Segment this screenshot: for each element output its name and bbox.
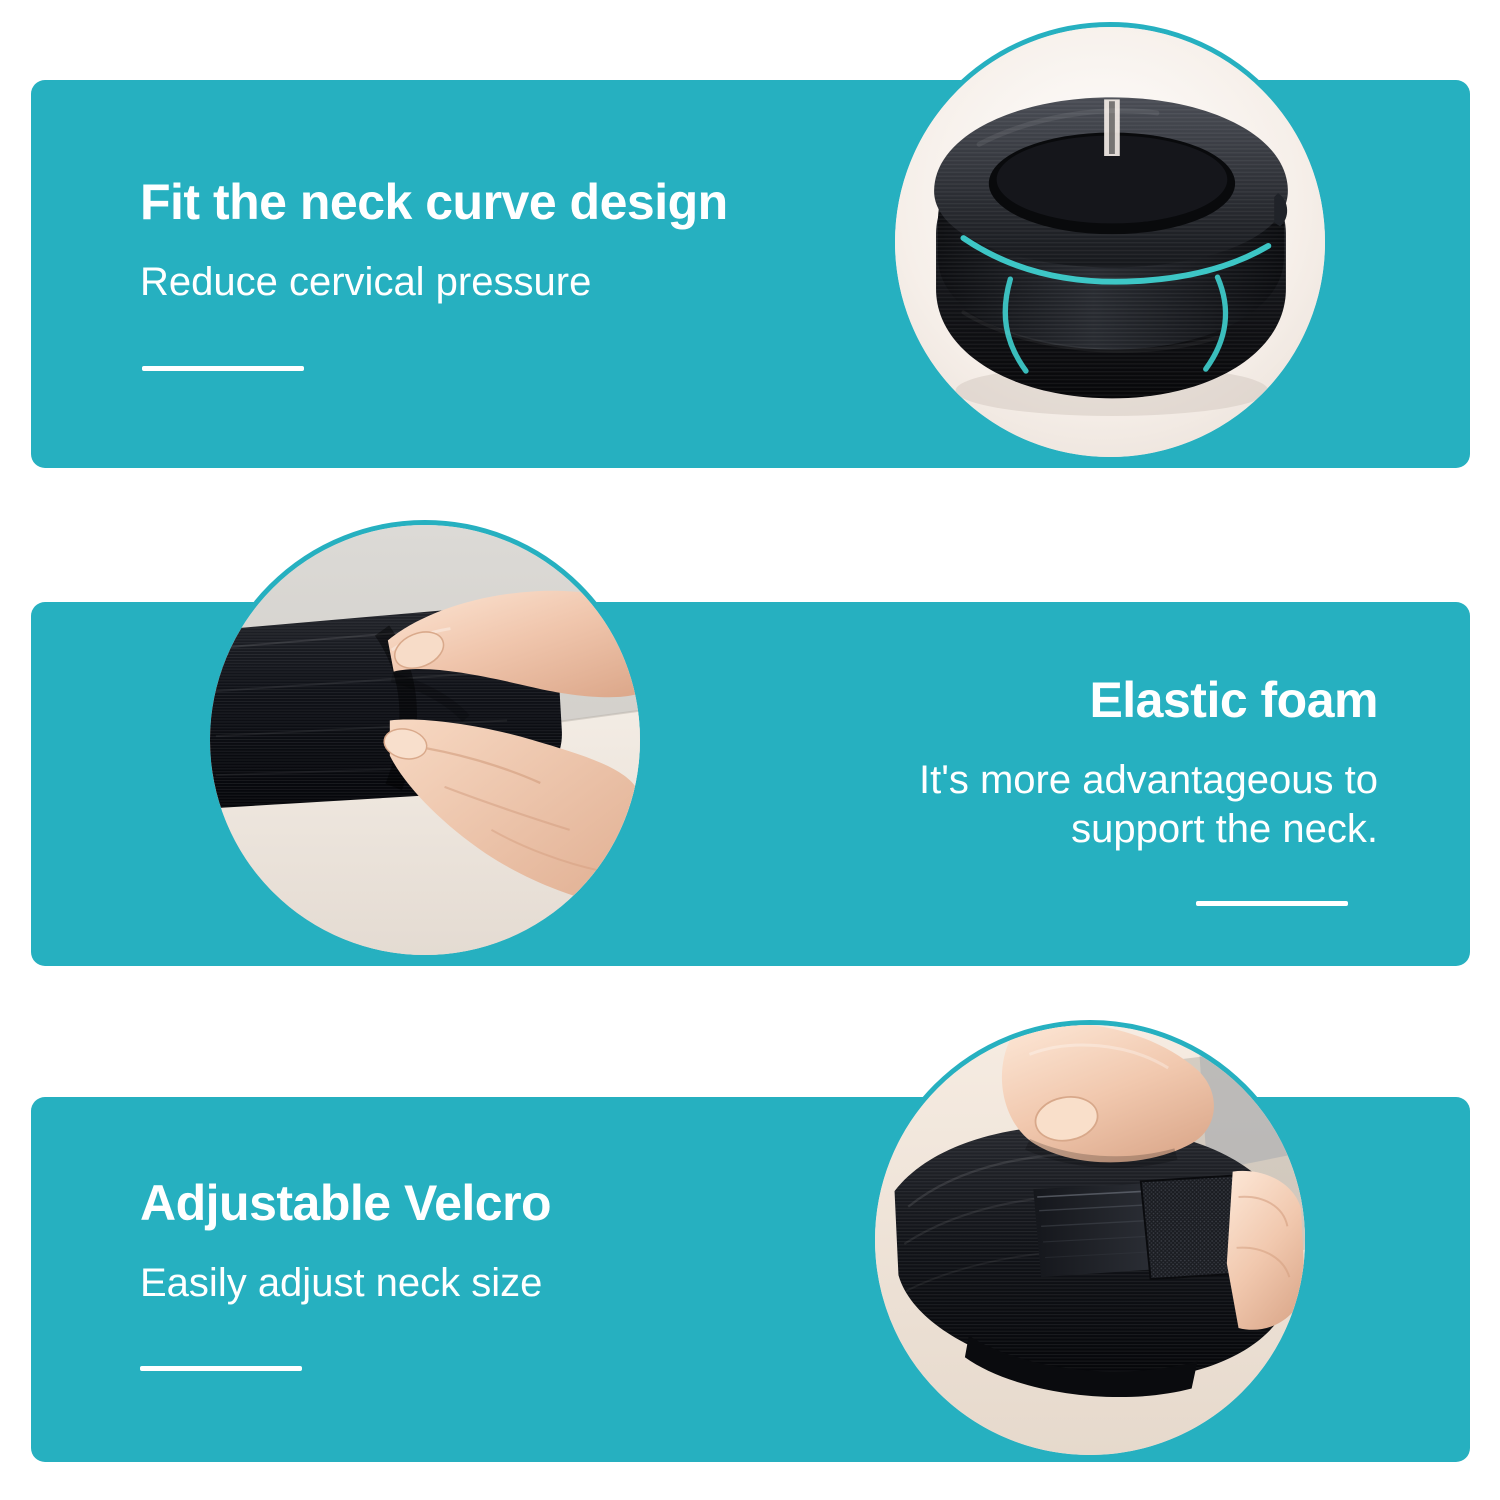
feature-divider-rule-2 <box>1196 901 1348 906</box>
feature-subtitle-1: Reduce cervical pressure <box>140 258 591 307</box>
hand-adjusting-velcro-illustration <box>875 1025 1305 1455</box>
feature-subtitle-2: It's more advantageous to support the ne… <box>818 756 1378 854</box>
product-photo-neck-brace <box>890 22 1330 462</box>
feature-title-3: Adjustable Velcro <box>140 1178 551 1228</box>
hand-pinching-strap-illustration <box>210 525 640 955</box>
product-photo-adjustable-velcro <box>870 1020 1310 1460</box>
feature-title-2: Elastic foam <box>1089 675 1378 725</box>
product-photo-elastic-foam <box>205 520 645 960</box>
feature-title-1: Fit the neck curve design <box>140 177 728 227</box>
feature-subtitle-3: Easily adjust neck size <box>140 1259 542 1308</box>
neck-brace-illustration <box>895 27 1325 457</box>
feature-divider-rule-3 <box>140 1366 302 1371</box>
feature-divider-rule-1 <box>142 366 304 371</box>
infographic-canvas: Fit the neck curve design Reduce cervica… <box>0 0 1500 1500</box>
